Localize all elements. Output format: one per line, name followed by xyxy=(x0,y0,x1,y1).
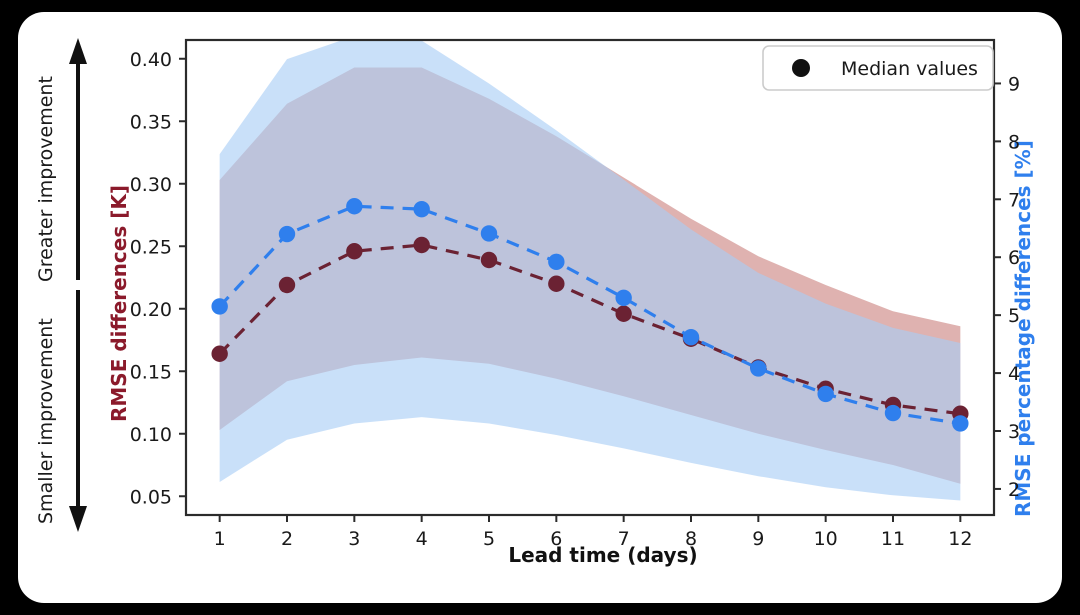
right-y-tick-label: 8 xyxy=(1008,131,1020,153)
figure-card: Greater improvement Smaller improvement … xyxy=(18,12,1062,603)
x-tick-label: 6 xyxy=(550,528,562,550)
left-y-tick-label: 0.30 xyxy=(130,174,172,196)
right-y-tick-label: 2 xyxy=(1008,479,1020,501)
x-tick-label: 10 xyxy=(814,528,838,550)
plot-area: 1234567891011120.050.100.150.200.250.300… xyxy=(130,36,1020,550)
x-tick-label: 4 xyxy=(416,528,428,550)
x-tick-label: 12 xyxy=(948,528,972,550)
right-y-tick-label: 7 xyxy=(1008,189,1020,211)
left-y-tick-label: 0.35 xyxy=(130,111,172,133)
RMSE percentage differences median-marker[interactable] xyxy=(683,329,699,345)
RMSE differences median-marker[interactable] xyxy=(481,252,497,268)
RMSE differences median-marker[interactable] xyxy=(279,277,295,293)
x-tick-label: 11 xyxy=(881,528,905,550)
RMSE percentage differences spread xyxy=(220,36,961,501)
rmse-differences-chart: Greater improvement Smaller improvement … xyxy=(18,12,1062,603)
right-y-tick-label: 5 xyxy=(1008,305,1020,327)
x-tick-label: 7 xyxy=(618,528,630,550)
screenshot-root: Greater improvement Smaller improvement … xyxy=(0,0,1080,615)
smaller-improvement-label: Smaller improvement xyxy=(35,318,57,524)
RMSE percentage differences median-marker[interactable] xyxy=(211,298,227,314)
right-y-tick-label: 6 xyxy=(1008,247,1020,269)
x-axis-title: Lead time (days) xyxy=(508,543,697,567)
RMSE percentage differences median-marker[interactable] xyxy=(413,201,429,217)
x-tick-label: 9 xyxy=(752,528,764,550)
left-y-tick-label: 0.40 xyxy=(130,49,172,71)
RMSE percentage differences median-marker[interactable] xyxy=(817,386,833,402)
left-y-tick-label: 0.15 xyxy=(130,361,172,383)
RMSE percentage differences median-marker[interactable] xyxy=(615,290,631,306)
RMSE differences median-marker[interactable] xyxy=(548,276,564,292)
x-tick-label: 1 xyxy=(214,528,226,550)
RMSE percentage differences median-marker[interactable] xyxy=(750,360,766,376)
left-y-tick-label: 0.25 xyxy=(130,236,172,258)
arrow-up-greater-improvement xyxy=(69,38,87,280)
left-y-tick-label: 0.10 xyxy=(130,424,172,446)
right-y-tick-label: 4 xyxy=(1008,363,1020,385)
RMSE differences median-marker[interactable] xyxy=(413,237,429,253)
RMSE differences median-marker[interactable] xyxy=(615,306,631,322)
RMSE percentage differences median-marker[interactable] xyxy=(952,415,968,431)
left-axis-title: RMSE differences [K] xyxy=(107,185,131,422)
left-y-tick-label: 0.05 xyxy=(130,486,172,508)
legend-marker-icon xyxy=(792,59,810,77)
greater-improvement-label: Greater improvement xyxy=(35,76,57,282)
right-y-tick-label: 3 xyxy=(1008,421,1020,443)
x-tick-label: 3 xyxy=(348,528,360,550)
plot-contents xyxy=(211,36,968,501)
improvement-annotation-group: Greater improvement Smaller improvement xyxy=(35,38,87,532)
left-y-tick-label: 0.20 xyxy=(130,299,172,321)
x-tick-label: 5 xyxy=(483,528,495,550)
RMSE differences median-marker[interactable] xyxy=(211,346,227,362)
arrow-down-smaller-improvement xyxy=(69,290,87,532)
legend-entry-label: Median values xyxy=(841,58,978,80)
RMSE percentage differences median-marker[interactable] xyxy=(885,405,901,421)
right-y-tick-label: 9 xyxy=(1008,73,1020,95)
RMSE percentage differences median-marker[interactable] xyxy=(481,225,497,241)
RMSE percentage differences median-marker[interactable] xyxy=(279,226,295,242)
x-tick-label: 2 xyxy=(281,528,293,550)
RMSE percentage differences median-marker[interactable] xyxy=(548,254,564,270)
RMSE percentage differences median-marker[interactable] xyxy=(346,198,362,214)
legend[interactable]: Median values xyxy=(763,46,993,90)
RMSE differences median-marker[interactable] xyxy=(346,243,362,259)
spread-bands xyxy=(220,36,961,501)
x-tick-label: 8 xyxy=(685,528,697,550)
